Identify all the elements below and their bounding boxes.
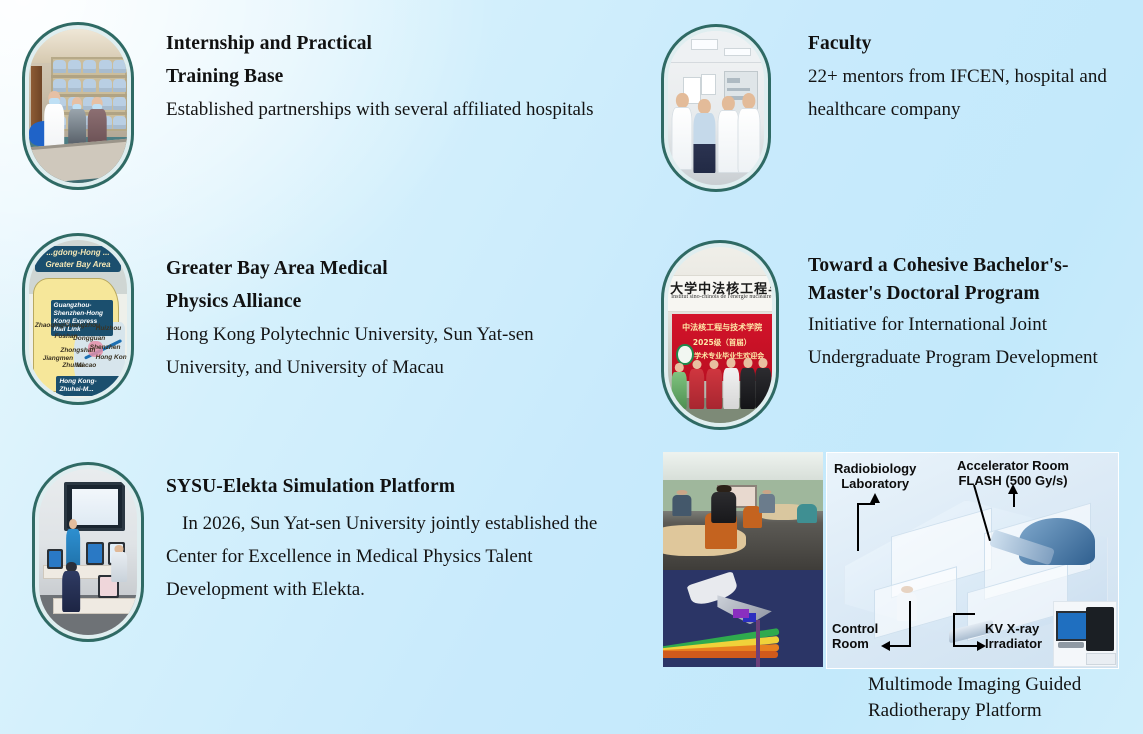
kv-xray-arrow-shaft (953, 645, 979, 647)
ifcen-ceremony-image: 大学中法核工程与技术 Institut sino-chinois de l'én… (668, 247, 772, 423)
greater-bay-area-map-image: ...gdong-Hong ... Greater Bay Area Guang… (29, 240, 127, 398)
gba-heading-line2: Physics Alliance (166, 285, 618, 318)
radiobiology-label-line1: Radiobiology (834, 461, 916, 476)
radiotherapy-facility-diagram: Radiobiology Laboratory Accelerator Room… (826, 452, 1119, 669)
map-city-zhaoqing: Zhaoqing (35, 322, 64, 329)
map-city-hongkong: Hong Kong (96, 354, 127, 361)
ceremony-banner-line1: 中法核工程与技术学院 (672, 322, 772, 333)
map-city-macao: Macao (76, 362, 96, 369)
radiobiology-label-line2: Laboratory (834, 476, 916, 491)
cohesive-program-text-block: Toward a Cohesive Bachelor's- Master's D… (808, 252, 1130, 374)
map-title-banner: ...gdong-Hong ... Greater Bay Area (35, 246, 121, 271)
gba-alliance-text-block: Greater Bay Area Medical Physics Allianc… (166, 252, 618, 384)
kv-xray-label-line1: KV X-ray (985, 621, 1042, 636)
slide-root: Internship and Practical Training Base E… (0, 0, 1143, 734)
kv-xray-irradiator-label: KV X-ray Irradiator (985, 621, 1042, 651)
sysu-elekta-text-block: SYSU-Elekta Simulation Platform In 2026,… (166, 470, 606, 606)
radiobiology-laboratory-label: Radiobiology Laboratory (834, 461, 916, 491)
operator-figure (897, 586, 917, 620)
control-room-arrow-head (881, 641, 890, 651)
faculty-photo-image (668, 31, 764, 185)
faculty-text-block: Faculty 22+ mentors from IFCEN, hospital… (808, 27, 1128, 126)
cohesive-heading-line2: Master's Doctoral Program (808, 279, 1130, 308)
active-learning-classroom-photo (663, 452, 823, 570)
multimode-imaging-guided-radiotherapy-figure: Radiobiology Laboratory Accelerator Room… (663, 452, 1117, 667)
faculty-heading: Faculty (808, 27, 1128, 60)
ifcen-ceremony-photo: 大学中法核工程与技术 Institut sino-chinois de l'én… (661, 240, 779, 430)
figure-caption-line2: Radiotherapy Platform (868, 698, 1138, 724)
internship-base-photo-image (29, 29, 127, 183)
accelerator-arrow-shaft (1013, 493, 1015, 507)
internship-body: Established partnerships with several af… (166, 93, 606, 126)
radiobiology-arrow-head (870, 493, 880, 503)
internship-heading-line1: Internship and Practical (166, 27, 606, 60)
greater-bay-area-map-photo: ...gdong-Hong ... Greater Bay Area Guang… (22, 233, 134, 405)
control-room-label-line1: Control (832, 621, 878, 636)
faculty-photo (661, 24, 771, 192)
simulation-platform-photo (32, 462, 144, 642)
sysu-elekta-heading: SYSU-Elekta Simulation Platform (166, 470, 606, 503)
map-city-dongguan: Dongguan (73, 335, 105, 342)
control-room-leader-line (909, 601, 911, 647)
ceremony-hall-title-fr: Institut sino-chinois de l'énergie nuclé… (671, 294, 772, 300)
map-bridge-tag: Hong Kong-Zhuhai-M... (56, 376, 121, 396)
figure-caption: Multimode Imaging Guided Radiotherapy Pl… (868, 672, 1138, 724)
internship-base-photo (22, 22, 134, 190)
simulation-platform-image (39, 469, 137, 635)
kv-xray-leader-line (953, 613, 955, 647)
control-room-arrow-shaft (889, 645, 911, 647)
map-city-shenzhen: Shenzhen (90, 344, 121, 351)
cohesive-heading-line1: Toward a Cohesive Bachelor's- (808, 252, 1130, 279)
kv-xray-leader-line-top (953, 613, 975, 615)
internship-text-block: Internship and Practical Training Base E… (166, 27, 606, 126)
faculty-body: 22+ mentors from IFCEN, hospital and hea… (808, 60, 1128, 126)
internship-heading-line2: Training Base (166, 60, 606, 93)
gba-body: Hong Kong Polytechnic University, Sun Ya… (166, 318, 618, 384)
sysu-elekta-body: In 2026, Sun Yat-sen University jointly … (166, 507, 606, 606)
radiobiology-arrow-shaft-h (857, 503, 875, 505)
accelerator-room-label-title: Accelerator Room (931, 458, 1095, 473)
radiobiology-arrow-shaft-v (857, 503, 859, 551)
beam-simulation-photo (663, 570, 823, 667)
cohesive-body: Initiative for International Joint Under… (808, 308, 1130, 374)
kv-xray-label-line2: Irradiator (985, 636, 1042, 651)
control-room-label-line2: Room (832, 636, 878, 651)
treatment-workstation-inset (1053, 601, 1117, 667)
control-room-label: Control Room (832, 621, 878, 651)
gba-heading-line1: Greater Bay Area Medical (166, 252, 618, 285)
kv-xray-arrow-head (977, 641, 986, 651)
figure-caption-line1: Multimode Imaging Guided (868, 672, 1138, 698)
map-banner-line1: ...gdong-Hong ... (35, 246, 121, 258)
map-banner-line2: Greater Bay Area (35, 258, 121, 270)
accelerator-arrow-head (1008, 484, 1018, 494)
map-city-huizhou: Huizhou (96, 325, 122, 332)
